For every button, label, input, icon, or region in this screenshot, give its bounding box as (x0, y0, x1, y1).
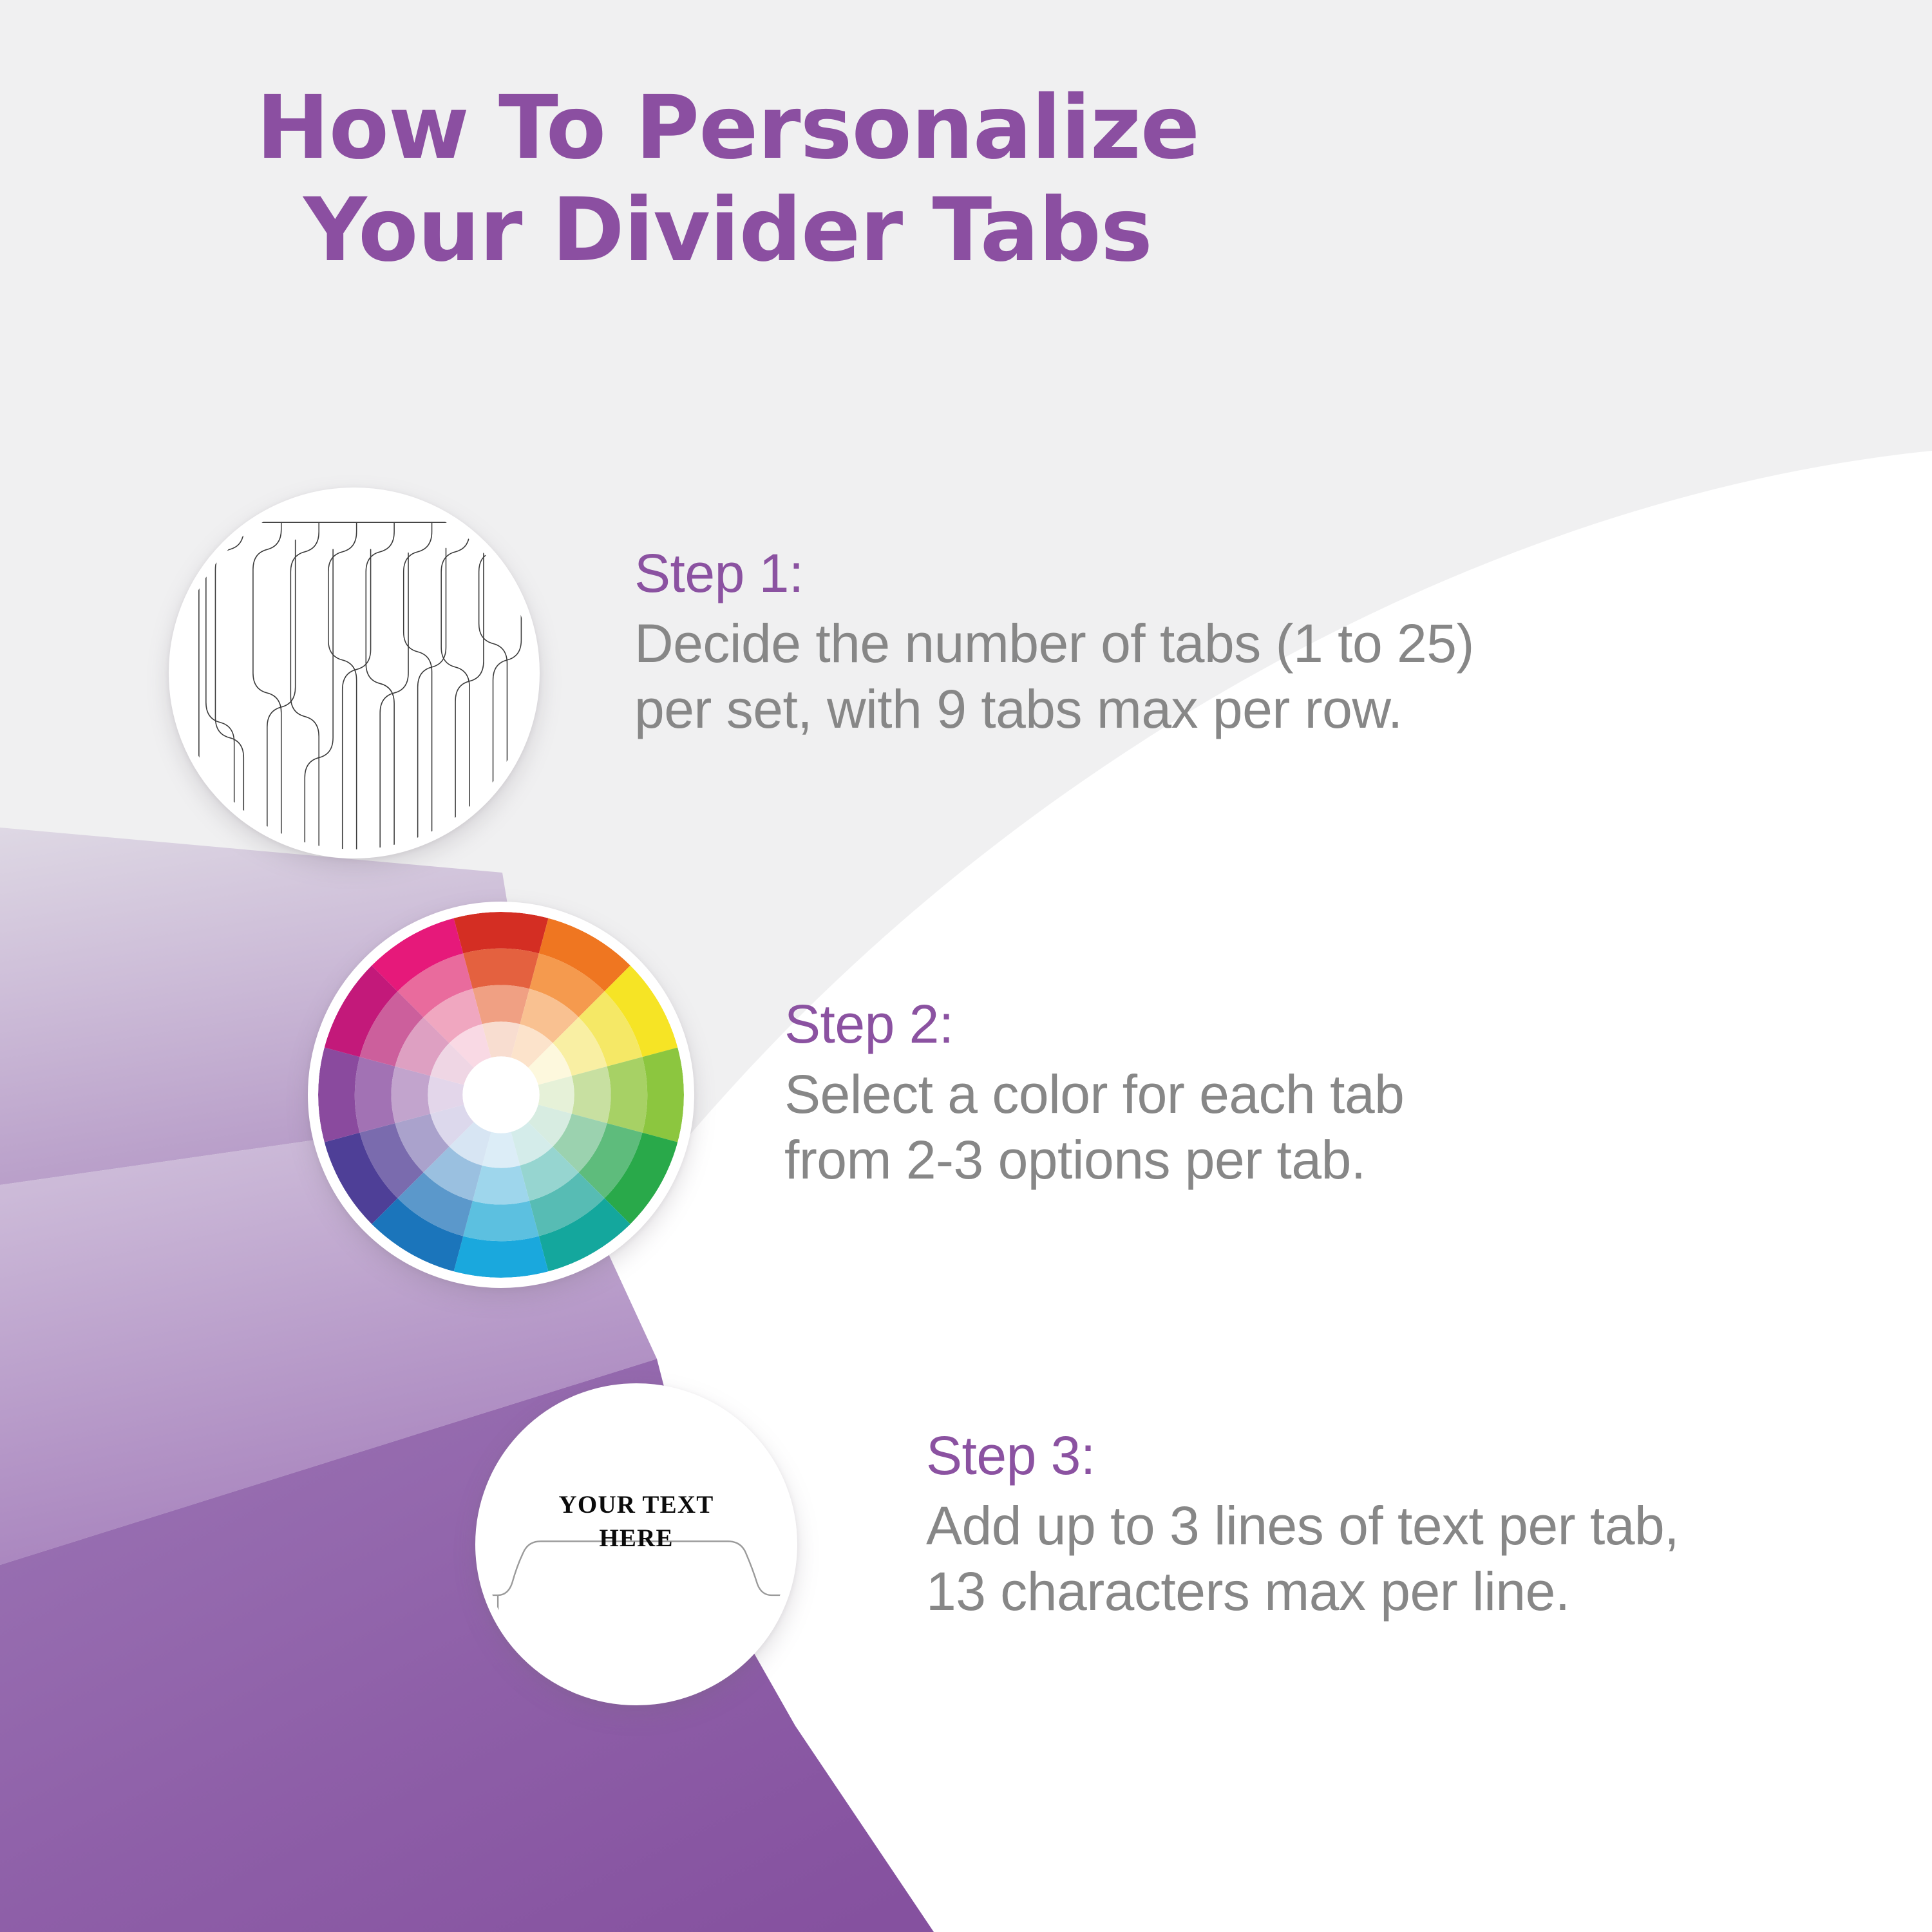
tab-preview-text: YOUR TEXT HERE (484, 1488, 789, 1556)
step-1-line-1: Decide the number of tabs (1 to 25) (634, 611, 1474, 676)
divider-tabs-drawing (178, 497, 531, 849)
illustration-circle-tab-text: YOUR TEXT HERE (475, 1383, 797, 1705)
color-wheel-segment (453, 1236, 548, 1278)
infographic-canvas: How To Personalize Your Divider Tabs (0, 0, 1932, 1932)
color-wheel-segment (453, 912, 548, 954)
tab-preview-line-1: YOUR TEXT (484, 1488, 789, 1522)
color-wheel-segment (355, 1057, 395, 1133)
illustration-circle-divider-tabs (169, 488, 540, 858)
step-2-label: Step 2: (784, 995, 1404, 1054)
color-wheel-segment (392, 1066, 431, 1123)
tab-preview-line-2: HERE (484, 1522, 789, 1555)
tab-outline-drawing: YOUR TEXT HERE (484, 1392, 789, 1697)
color-wheel-segment (607, 1057, 648, 1133)
step-3-line-1: Add up to 3 lines of text per tab, (926, 1493, 1679, 1558)
step-3-line-2: 13 characters max per line. (926, 1558, 1679, 1624)
color-wheel-segment (463, 1201, 539, 1242)
color-wheel-segment (572, 1066, 611, 1123)
color-wheel-segment (473, 985, 529, 1025)
step-2-line-2: from 2-3 options per tab. (784, 1127, 1404, 1193)
color-wheel (318, 912, 684, 1278)
step-2-line-1: Select a color for each tab (784, 1061, 1404, 1127)
page-title: How To Personalize Your Divider Tabs (0, 77, 1455, 282)
background-shapes (0, 0, 1932, 1932)
color-wheel-segment (318, 1047, 360, 1142)
illustration-circle-color-wheel (308, 902, 694, 1288)
step-3-label: Step 3: (926, 1426, 1679, 1485)
title-line-2: Your Divider Tabs (0, 180, 1455, 282)
color-wheel-segment (642, 1047, 684, 1142)
step-1-line-2: per set, with 9 tabs max per row. (634, 676, 1474, 742)
title-line-1: How To Personalize (0, 77, 1455, 180)
color-wheel-segment (473, 1166, 529, 1205)
step-1-label: Step 1: (634, 544, 1474, 603)
step-2-text-block: Step 2: Select a color for each tab from… (784, 995, 1404, 1193)
color-wheel-segment (463, 949, 539, 989)
step-1-text-block: Step 1: Decide the number of tabs (1 to … (634, 544, 1474, 743)
color-wheel-hub (462, 1056, 539, 1133)
step-3-text-block: Step 3: Add up to 3 lines of text per ta… (926, 1426, 1679, 1625)
